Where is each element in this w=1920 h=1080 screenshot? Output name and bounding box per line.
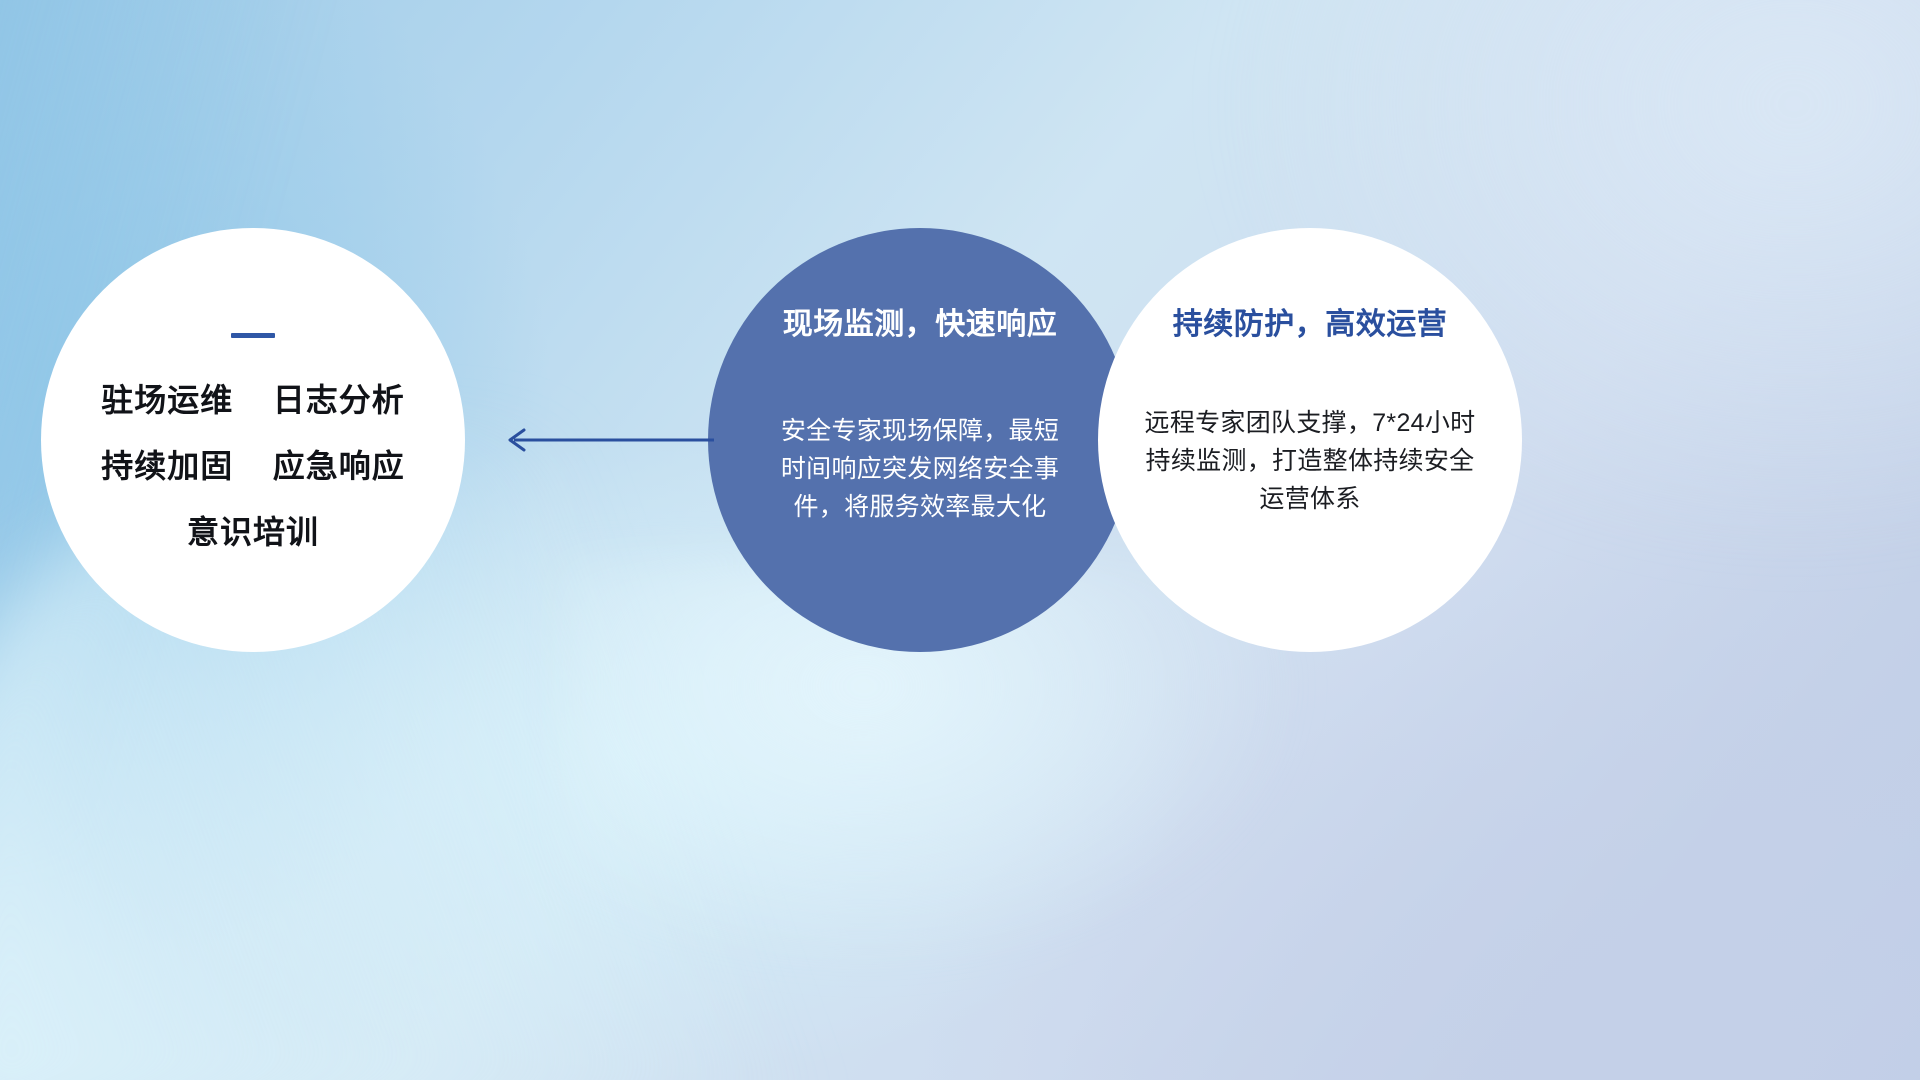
continuous-protection-circle[interactable]: 持续防护，高效运营 远程专家团队支撑，7*24小时持续监测，打造整体持续安全运营… xyxy=(1098,228,1522,652)
capability-line-3: 意识培训 xyxy=(187,516,319,548)
capability-line-2: 持续加固 应急响应 xyxy=(101,450,405,482)
capability-line-1: 驻场运维 日志分析 xyxy=(101,384,405,416)
continuous-protection-title: 持续防护，高效运营 xyxy=(1173,310,1448,340)
continuous-protection-body: 远程专家团队支撑，7*24小时持续监测，打造整体持续安全运营体系 xyxy=(1134,404,1486,518)
onsite-monitoring-circle[interactable]: 现场监测，快速响应 安全专家现场保障，最短时间响应突发网络安全事件，将服务效率最… xyxy=(708,228,1132,652)
capability-circle[interactable]: 驻场运维 日志分析 持续加固 应急响应 意识培训 xyxy=(41,228,465,652)
onsite-monitoring-body: 安全专家现场保障，最短时间响应突发网络安全事件，将服务效率最大化 xyxy=(770,412,1070,526)
left-pointing-arrow xyxy=(488,418,714,462)
onsite-monitoring-title: 现场监测，快速响应 xyxy=(783,310,1058,340)
onsite-monitoring-content: 现场监测，快速响应 安全专家现场保障，最短时间响应突发网络安全事件，将服务效率最… xyxy=(708,228,1132,652)
divider-dash xyxy=(231,333,275,338)
slide-canvas: 现场监测，快速响应 安全专家现场保障，最短时间响应突发网络安全事件，将服务效率最… xyxy=(0,0,1920,1080)
continuous-protection-content: 持续防护，高效运营 远程专家团队支撑，7*24小时持续监测，打造整体持续安全运营… xyxy=(1098,228,1522,652)
capability-content: 驻场运维 日志分析 持续加固 应急响应 意识培训 xyxy=(41,228,465,652)
